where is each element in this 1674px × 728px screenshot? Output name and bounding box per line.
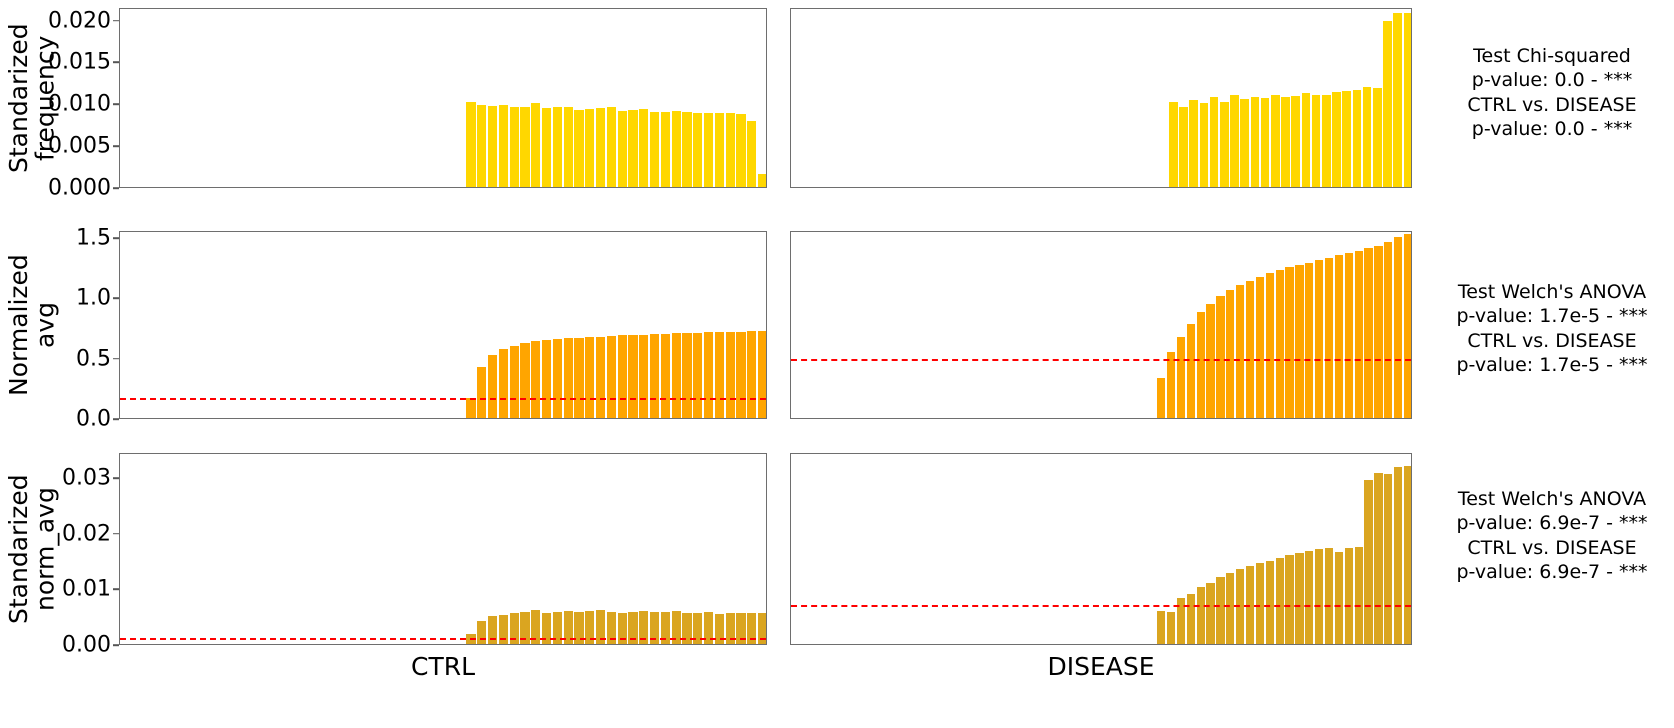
bar xyxy=(1335,255,1343,418)
bar xyxy=(1210,97,1219,187)
bar xyxy=(564,338,573,418)
bar xyxy=(1325,548,1333,644)
bar xyxy=(477,367,486,418)
bar xyxy=(1404,234,1411,418)
bar xyxy=(1305,263,1313,418)
bar xyxy=(1157,378,1165,418)
bar xyxy=(1315,549,1323,644)
bar xyxy=(1276,270,1284,418)
bar xyxy=(531,341,540,418)
bar xyxy=(1374,473,1382,644)
bar xyxy=(1197,587,1205,644)
bar xyxy=(1246,281,1254,418)
bar xyxy=(1167,612,1175,644)
figure-root: Standarized frequency Test Chi-squared p… xyxy=(0,0,1674,728)
plot-area-row1-ctrl xyxy=(120,9,766,187)
bar xyxy=(1169,102,1178,187)
bar xyxy=(488,616,497,644)
bar xyxy=(1189,100,1198,187)
bar xyxy=(1384,242,1392,418)
bar xyxy=(704,332,713,418)
bar xyxy=(1200,103,1209,187)
bar xyxy=(715,113,724,187)
bar xyxy=(1325,258,1333,418)
bar xyxy=(1373,88,1382,187)
bar xyxy=(1393,13,1402,187)
bar xyxy=(1355,251,1363,419)
bar xyxy=(1315,260,1323,418)
bar xyxy=(736,332,745,418)
bar xyxy=(1226,573,1234,644)
bar xyxy=(1261,98,1270,187)
bar xyxy=(510,346,519,418)
bar xyxy=(477,621,486,644)
bar xyxy=(1266,561,1274,644)
bar xyxy=(466,398,475,418)
plot-area-row1-disease xyxy=(791,9,1411,187)
bar xyxy=(574,110,583,187)
bar xyxy=(1332,92,1341,187)
bar xyxy=(1236,285,1244,418)
plot-area-row2-disease xyxy=(791,232,1411,418)
bar xyxy=(1206,304,1214,418)
bar xyxy=(1394,237,1402,418)
bar xyxy=(1226,290,1234,418)
bar xyxy=(1335,552,1343,644)
bar xyxy=(574,338,583,418)
bar xyxy=(564,107,573,187)
bar xyxy=(1363,87,1372,187)
bar xyxy=(693,333,702,418)
bar xyxy=(693,113,702,187)
bar xyxy=(747,331,756,418)
bar xyxy=(618,111,627,187)
bar xyxy=(715,332,724,418)
bar xyxy=(1281,97,1290,187)
bar xyxy=(1230,95,1239,187)
bar xyxy=(758,174,766,187)
bar xyxy=(628,110,637,187)
bar xyxy=(477,105,486,187)
bar xyxy=(639,109,648,187)
panel-row3-disease xyxy=(790,453,1412,645)
bar xyxy=(1384,474,1392,644)
bar xyxy=(726,113,735,187)
bar xyxy=(1266,273,1274,418)
bar xyxy=(1295,265,1303,418)
bar xyxy=(466,102,475,187)
bar xyxy=(1285,267,1293,418)
bar xyxy=(682,333,691,418)
y-axis-label-row2: Normalized avg xyxy=(6,231,36,419)
bar xyxy=(1312,95,1321,188)
bar xyxy=(1179,107,1188,187)
threshold-line xyxy=(791,359,1411,361)
threshold-line xyxy=(791,605,1411,607)
bar xyxy=(1291,96,1300,187)
bar xyxy=(1206,583,1214,644)
bar xyxy=(585,337,594,418)
bar xyxy=(1404,13,1411,187)
bar xyxy=(520,343,529,418)
bar xyxy=(639,335,648,419)
bar xyxy=(1305,551,1313,644)
bar xyxy=(1345,253,1353,418)
bar xyxy=(661,112,670,187)
bar xyxy=(1322,95,1331,187)
bar xyxy=(1404,466,1411,644)
bar xyxy=(1197,312,1205,418)
bar xyxy=(1295,553,1303,644)
bar xyxy=(1394,467,1402,644)
threshold-line xyxy=(120,638,766,640)
bar xyxy=(607,107,616,187)
bar xyxy=(542,108,551,187)
x-axis-label-disease: DISEASE xyxy=(790,652,1412,681)
bar xyxy=(1302,93,1311,187)
bar xyxy=(488,106,497,187)
panel-row1-disease xyxy=(790,8,1412,188)
bar xyxy=(499,105,508,187)
panel-row1-ctrl xyxy=(119,8,767,188)
bar xyxy=(1251,97,1260,187)
bar xyxy=(1364,248,1372,418)
bar xyxy=(672,111,681,187)
bar xyxy=(553,107,562,187)
annotation-row3: Test Welch's ANOVA p-value: 6.9e-7 - ***… xyxy=(1432,487,1672,584)
annotation-row2: Test Welch's ANOVA p-value: 1.7e-5 - ***… xyxy=(1432,280,1672,377)
bar xyxy=(704,113,713,187)
bar xyxy=(1216,296,1224,418)
bar xyxy=(1240,99,1249,187)
bar xyxy=(1256,277,1264,418)
plot-area-row3-ctrl xyxy=(120,454,766,644)
plot-area-row2-ctrl xyxy=(120,232,766,418)
bar xyxy=(1157,611,1165,644)
bar xyxy=(520,107,529,187)
bar xyxy=(1345,548,1353,644)
panel-row2-disease xyxy=(790,231,1412,419)
bar xyxy=(1187,324,1195,418)
x-axis-label-ctrl: CTRL xyxy=(119,652,767,681)
bar xyxy=(650,334,659,418)
panel-row2-ctrl xyxy=(119,231,767,419)
bar xyxy=(1216,577,1224,644)
bar xyxy=(542,340,551,418)
bar xyxy=(1383,21,1392,187)
panel-row3-ctrl xyxy=(119,453,767,645)
bar xyxy=(1187,594,1195,644)
bar xyxy=(607,336,616,418)
bar xyxy=(682,112,691,187)
bar xyxy=(585,109,594,187)
bar xyxy=(747,121,756,187)
bar xyxy=(672,333,681,418)
bar xyxy=(661,334,670,418)
y-axis-ticks-row1 xyxy=(0,0,113,200)
threshold-line xyxy=(120,398,766,400)
bar xyxy=(726,332,735,418)
bar xyxy=(758,331,766,418)
bar xyxy=(499,349,508,418)
bar xyxy=(1276,558,1284,644)
bar xyxy=(1177,337,1185,418)
bar xyxy=(618,335,627,418)
bar xyxy=(531,103,540,187)
bar xyxy=(596,337,605,418)
bar xyxy=(1271,95,1280,187)
bar xyxy=(1220,102,1229,187)
bar xyxy=(1364,480,1372,644)
y-axis-label-row3: Standarized norm_avg xyxy=(6,453,36,645)
bar xyxy=(736,114,745,187)
bar xyxy=(488,355,497,418)
bar xyxy=(1285,555,1293,644)
bar xyxy=(1167,352,1175,418)
bar xyxy=(1342,91,1351,187)
plot-area-row3-disease xyxy=(791,454,1411,644)
bar xyxy=(553,339,562,418)
bar xyxy=(650,112,659,187)
bar xyxy=(1355,547,1363,644)
bar xyxy=(1353,90,1362,187)
bar xyxy=(596,108,605,187)
bar xyxy=(1374,246,1382,418)
bar xyxy=(510,107,519,187)
annotation-row1: Test Chi-squared p-value: 0.0 - *** CTRL… xyxy=(1432,44,1672,141)
bar xyxy=(1256,563,1264,644)
bar xyxy=(628,335,637,418)
